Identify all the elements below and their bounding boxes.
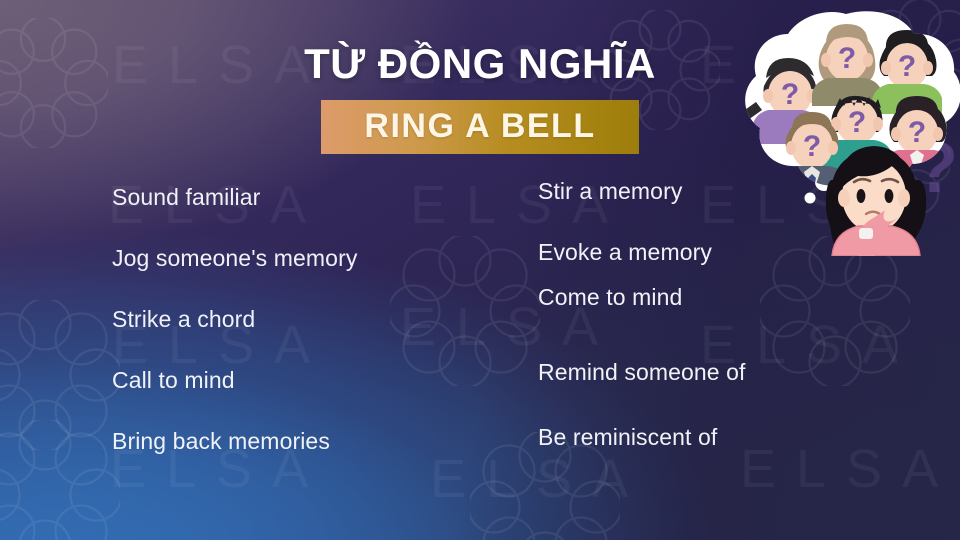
- bubble-tail-small: [805, 193, 816, 204]
- list-item: Remind someone of: [538, 361, 746, 384]
- thinking-woman-illustration: ? ?: [728, 6, 960, 256]
- svg-text:?: ?: [848, 106, 866, 139]
- svg-text:?: ?: [781, 78, 799, 111]
- list-item: Stir a memory: [538, 180, 746, 203]
- flower-motif-icon: [390, 236, 540, 386]
- flower-motif-icon: [0, 420, 120, 540]
- phrase-banner: RING A BELL: [321, 100, 639, 154]
- svg-text:?: ?: [908, 116, 926, 149]
- slide-canvas: ELSAELSAELSAELSAELSAELSAELSAELSAELSAELSA…: [0, 0, 960, 540]
- list-item: Sound familiar: [112, 186, 357, 209]
- list-item: Strike a chord: [112, 308, 357, 331]
- brand-watermark: ELSA: [740, 442, 958, 496]
- list-item: Call to mind: [112, 369, 357, 392]
- flower-motif-icon: [760, 236, 910, 386]
- svg-text:?: ?: [838, 42, 856, 75]
- synonym-list-left: Sound familiar Jog someone's memory Stri…: [112, 186, 357, 491]
- svg-text:?: ?: [898, 50, 916, 83]
- synonym-list-right: Stir a memory Evoke a memory Come to min…: [538, 180, 746, 487]
- list-item: Evoke a memory: [538, 241, 746, 264]
- list-item: Jog someone's memory: [112, 247, 357, 270]
- phrase-banner-label: RING A BELL: [351, 109, 609, 143]
- list-item: Bring back memories: [112, 430, 357, 453]
- list-item: Be reminiscent of: [538, 426, 746, 449]
- svg-text:?: ?: [803, 130, 821, 163]
- list-item: Come to mind: [538, 286, 746, 309]
